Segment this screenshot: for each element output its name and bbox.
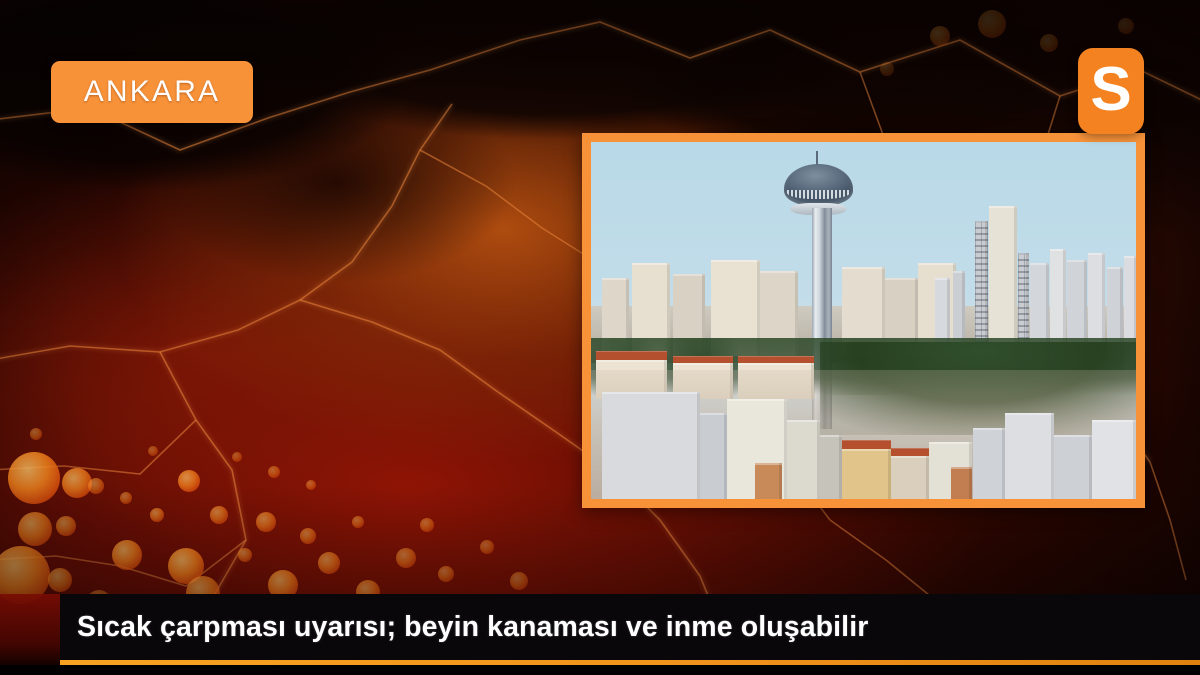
- brand-logo: S: [1078, 48, 1144, 134]
- headline-bar: Sıcak çarpması uyarısı; beyin kanaması v…: [60, 594, 1200, 660]
- bottom-black-fill: [0, 665, 1200, 675]
- headline-left-strip: [0, 594, 60, 675]
- location-badge: ANKARA: [51, 61, 253, 123]
- photo-image-ankara-skyline: [591, 142, 1136, 499]
- news-graphic: ANKARA: [0, 0, 1200, 675]
- photo-tower-dome: [784, 164, 853, 205]
- headline-text: Sıcak çarpması uyarısı; beyin kanaması v…: [77, 611, 868, 644]
- photo-frame: [582, 133, 1145, 508]
- brand-logo-letter: S: [1090, 59, 1131, 121]
- location-badge-label: ANKARA: [84, 75, 221, 109]
